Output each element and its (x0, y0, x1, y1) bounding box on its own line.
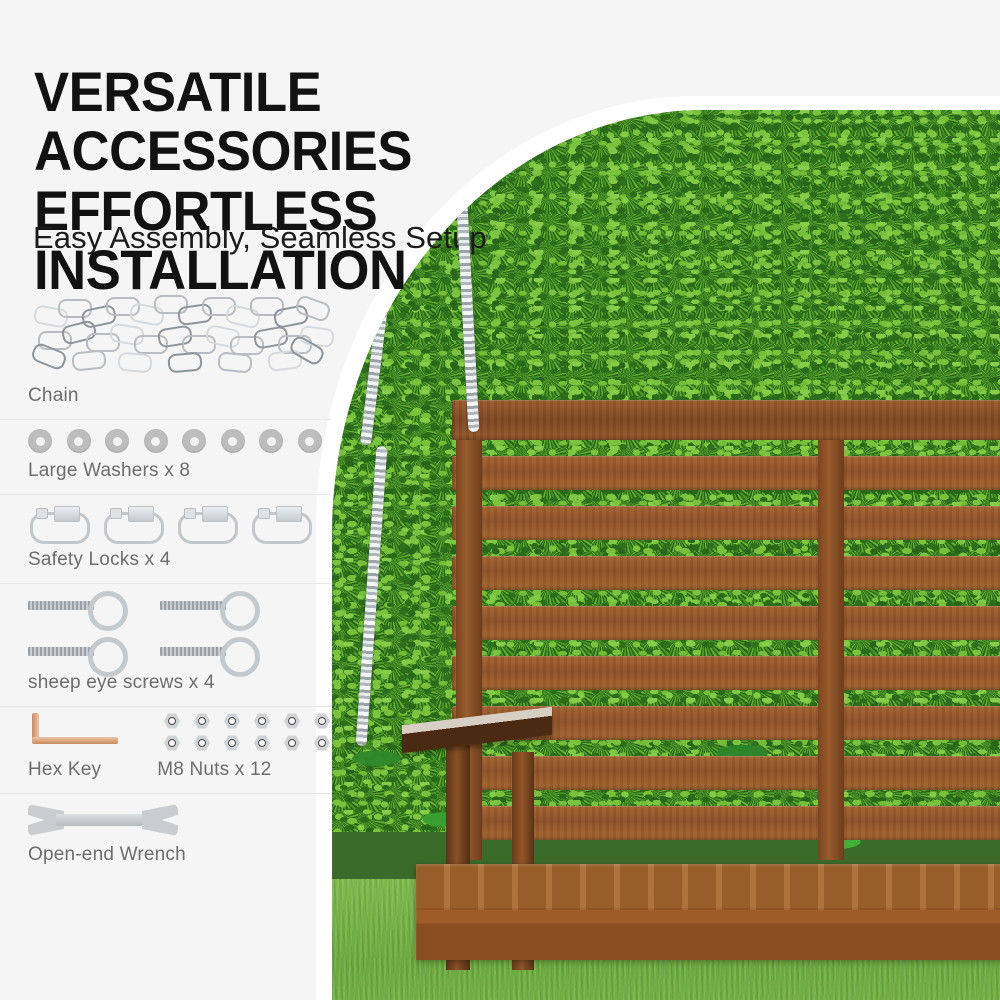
bench-slat (452, 456, 1000, 490)
marketing-image: VERSATILE ACCESSORIES EFFORTLESS INSTALL… (0, 0, 1000, 1000)
list-item-label: sheep eye screws x 4 (28, 672, 330, 694)
safety-lock-icon (28, 501, 330, 545)
list-item-label: Hex Key (28, 759, 101, 781)
hex-key-icon (28, 713, 108, 755)
chain-icon (28, 283, 330, 381)
open-end-wrench-icon (28, 800, 330, 840)
bench-slat (452, 756, 1000, 790)
accessories-list: Chain Large Washers x 8 (0, 277, 330, 878)
washer-icon (28, 426, 330, 456)
list-item-label: Chain (28, 385, 330, 407)
porch-swing-bench (452, 400, 1000, 960)
list-item: Chain (0, 277, 330, 419)
list-item-label: M8 Nuts x 12 (157, 759, 271, 781)
list-item: Open-end Wrench (0, 793, 330, 878)
bench-slat (452, 606, 1000, 640)
list-item-label: Open-end Wrench (28, 844, 330, 866)
bench-slat (452, 506, 1000, 540)
bench-center-post (818, 440, 844, 860)
list-item: sheep eye screws x 4 (0, 583, 330, 706)
page-title: VERSATILE ACCESSORIES EFFORTLESS INSTALL… (34, 62, 683, 299)
list-item: Hex Key M8 Nuts x 12 (0, 706, 330, 793)
bench-slat (452, 556, 1000, 590)
list-item-label: Large Washers x 8 (28, 460, 330, 482)
bench-slat (452, 656, 1000, 690)
eye-screw-icon (28, 590, 330, 668)
list-item: Safety Locks x 4 (0, 494, 330, 583)
hex-nut-icon (164, 713, 330, 751)
page-subtitle: Easy Assembly, Seamless Setup (33, 220, 487, 256)
bench-slat (452, 400, 1000, 440)
bench-slat (452, 806, 1000, 840)
list-item: Large Washers x 8 (0, 419, 330, 494)
bench-seat (416, 864, 1000, 960)
list-item-label: Safety Locks x 4 (28, 549, 330, 571)
